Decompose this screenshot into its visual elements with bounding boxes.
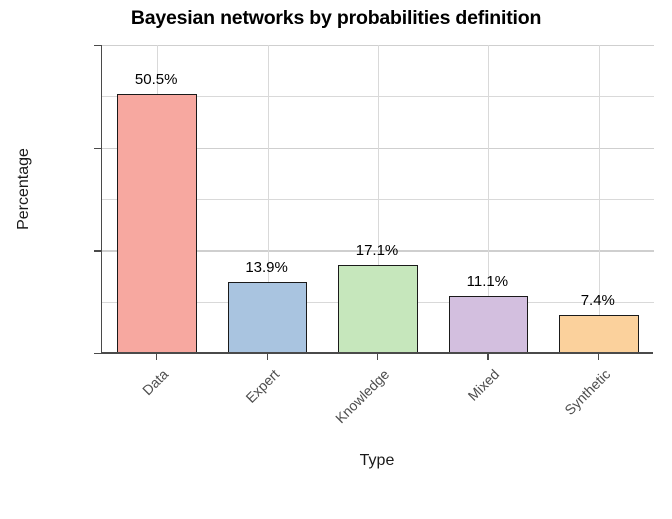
bar-chart: Bayesian networks by probabilities defin…: [0, 0, 672, 480]
y-tick-mark: [94, 148, 101, 149]
chart-title: Bayesian networks by probabilities defin…: [0, 7, 672, 30]
bar-value-label: 13.9%: [245, 259, 288, 276]
bar-knowledge[interactable]: [338, 265, 417, 353]
x-tick-mark: [598, 353, 599, 360]
bar-mixed[interactable]: [449, 296, 528, 353]
y-tick-mark: [94, 45, 101, 46]
bar-value-label: 50.5%: [135, 71, 178, 88]
bar-value-label: 7.4%: [581, 292, 615, 309]
bar-synthetic[interactable]: [559, 315, 638, 353]
x-tick-mark: [377, 353, 378, 360]
y-axis-title: Percentage: [15, 119, 33, 259]
bar-data[interactable]: [117, 94, 196, 353]
x-tick-mark: [156, 353, 157, 360]
plot-panel: [101, 45, 654, 353]
x-tick-mark: [487, 353, 488, 360]
bar-value-label: 11.1%: [467, 273, 508, 290]
y-tick-mark: [94, 250, 101, 251]
y-tick-mark: [94, 353, 101, 354]
x-tick-mark: [267, 353, 268, 360]
bar-value-label: 17.1%: [356, 242, 399, 259]
bar-expert[interactable]: [228, 282, 307, 353]
